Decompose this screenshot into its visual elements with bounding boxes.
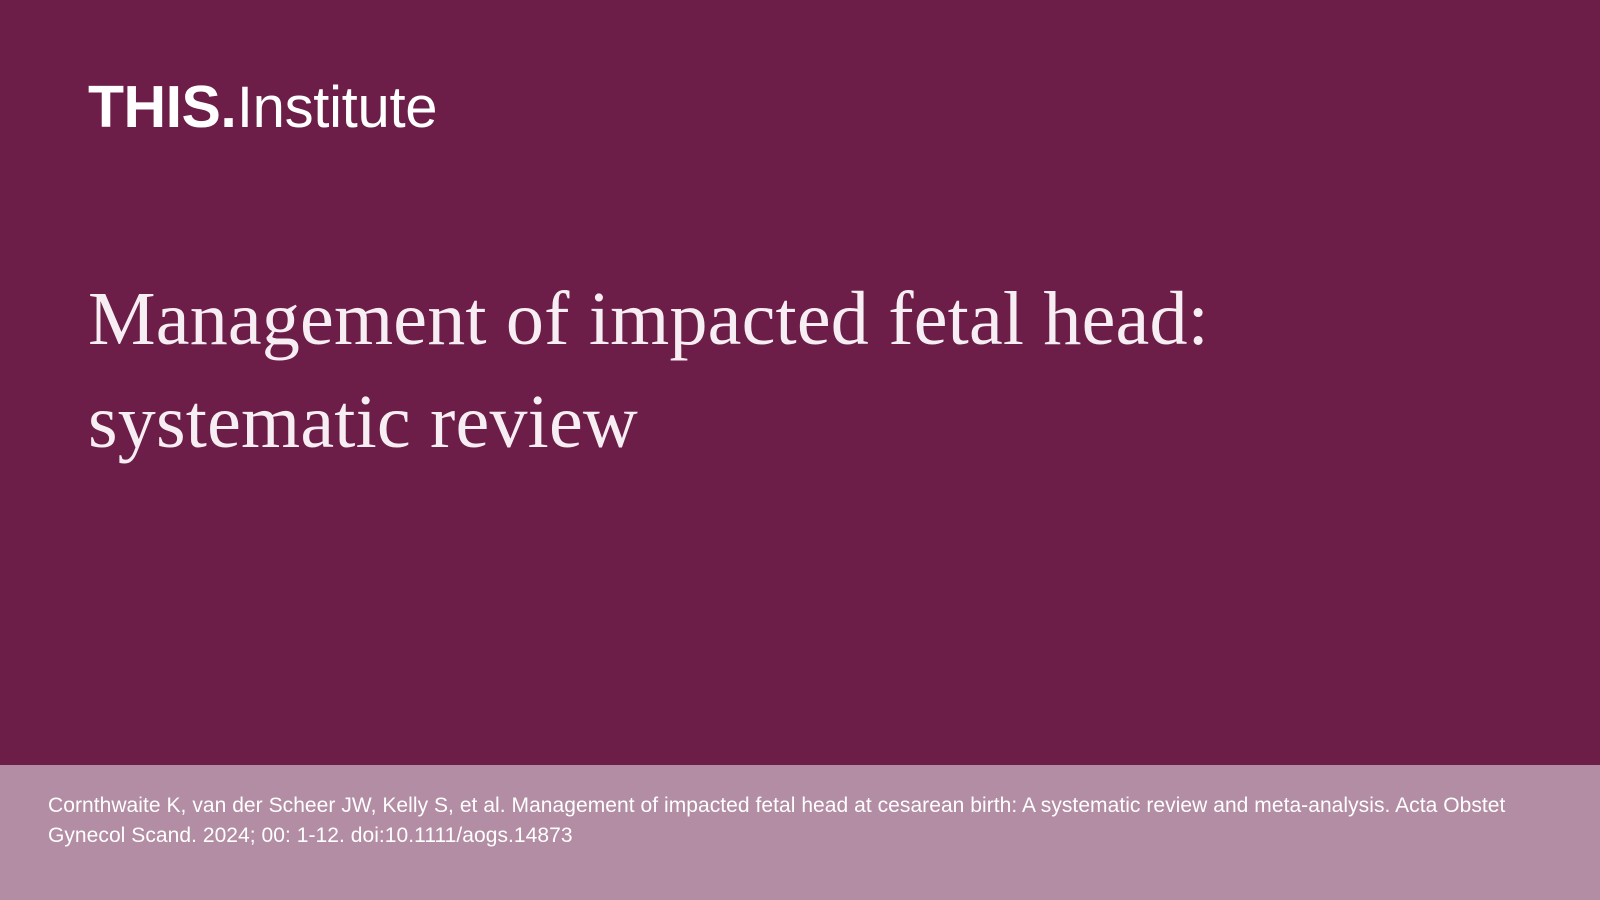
logo-brand-dot: . [220,78,236,137]
logo-brand-light: Institute [237,79,437,137]
logo-brand-bold: THIS [88,78,220,137]
this-institute-logo: THIS.Institute [88,78,437,137]
title-block: Management of impacted fetal head: syste… [88,268,1338,475]
citation-text: Cornthwaite K, van der Scheer JW, Kelly … [48,791,1552,852]
citation-bar: Cornthwaite K, van der Scheer JW, Kelly … [0,765,1600,900]
slide-title: Management of impacted fetal head: syste… [88,268,1338,475]
title-slide: THIS.Institute Management of impacted fe… [0,0,1600,900]
